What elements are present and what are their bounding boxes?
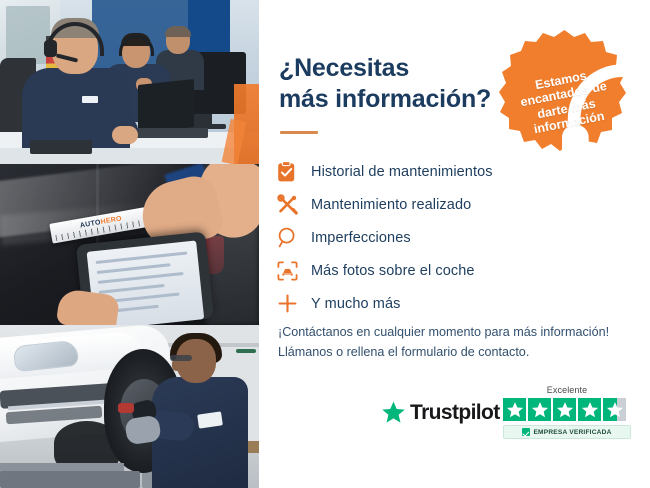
tools-wrench-screwdriver-icon xyxy=(277,194,311,215)
feature-item: Imperfecciones xyxy=(277,221,637,254)
support-badge-text: Estamos encantados de darte más informac… xyxy=(504,62,625,139)
laptop-base xyxy=(128,128,208,138)
promo-banner: AUTOHERO xyxy=(0,0,650,488)
feature-label: Más fotos sobre el coche xyxy=(311,263,475,279)
verified-label: EMPRESA VERIFICADA xyxy=(533,429,611,436)
laptop-screen xyxy=(138,79,194,133)
page-title-line2: más información? xyxy=(279,85,491,113)
car-lift xyxy=(0,471,140,488)
page-title-line1: ¿Necesitas xyxy=(279,54,409,82)
feature-item: Mantenimiento realizado xyxy=(277,188,637,221)
trustpilot-star-icon xyxy=(381,400,406,425)
name-badge xyxy=(82,96,98,103)
call-centre-agents-photo xyxy=(0,0,259,164)
photo-column: AUTOHERO xyxy=(0,0,259,488)
star-filled xyxy=(578,398,601,421)
clipboard-check-icon xyxy=(277,161,311,182)
title-divider xyxy=(280,131,318,134)
plus-icon xyxy=(277,293,311,314)
feature-label: Imperfecciones xyxy=(311,230,411,246)
contact-copy-line2: Llámanos o rellena el formulario de cont… xyxy=(278,342,638,362)
feature-item: Historial de mantenimientos xyxy=(277,155,637,188)
feature-label: Historial de mantenimientos xyxy=(311,164,493,180)
feature-item: Más fotos sobre el coche xyxy=(277,254,637,287)
page-title: ¿Necesitasmás información? xyxy=(279,53,509,114)
trustpilot-logo: Trustpilot xyxy=(381,400,500,425)
rating-label: Excelente xyxy=(503,385,631,395)
hand-tool xyxy=(118,403,134,413)
car-frame-icon xyxy=(277,261,311,281)
star-filled xyxy=(553,398,576,421)
trustpilot-rating: Excelente EMPRESA VERIFICADA xyxy=(503,385,631,439)
contact-copy: ¡Contáctanos en cualquier momento para m… xyxy=(278,322,638,363)
feature-item: Y mucho más xyxy=(277,287,637,320)
star-rating xyxy=(503,398,631,421)
verified-badge: EMPRESA VERIFICADA xyxy=(503,425,631,439)
support-badge: Estamos encantados de darte más informac… xyxy=(498,28,631,158)
feature-label: Y mucho más xyxy=(311,296,400,312)
technician-head xyxy=(176,339,216,383)
feature-list: Historial de mantenimientos Mantenimient… xyxy=(277,155,637,320)
safety-glasses xyxy=(170,355,192,361)
star-filled xyxy=(503,398,526,421)
car-inspection-ruler-photo: AUTOHERO xyxy=(0,164,259,325)
content-panel: ¿Necesitasmás información? Estamos encan… xyxy=(259,0,650,488)
trustpilot-brand: Trustpilot xyxy=(410,401,500,425)
keyboard xyxy=(30,140,92,154)
contact-copy-line1: ¡Contáctanos en cualquier momento para m… xyxy=(278,322,638,342)
trustpilot-widget[interactable]: Trustpilot Excelente EMPRESA VERIFICADA xyxy=(381,385,631,447)
magnifier-icon xyxy=(277,227,311,248)
wall-poster xyxy=(188,0,230,52)
technician-wheel-photo xyxy=(0,325,259,488)
star-partial xyxy=(603,398,626,421)
star-filled xyxy=(528,398,551,421)
feature-label: Mantenimiento realizado xyxy=(311,197,471,213)
check-box-icon xyxy=(522,428,530,436)
